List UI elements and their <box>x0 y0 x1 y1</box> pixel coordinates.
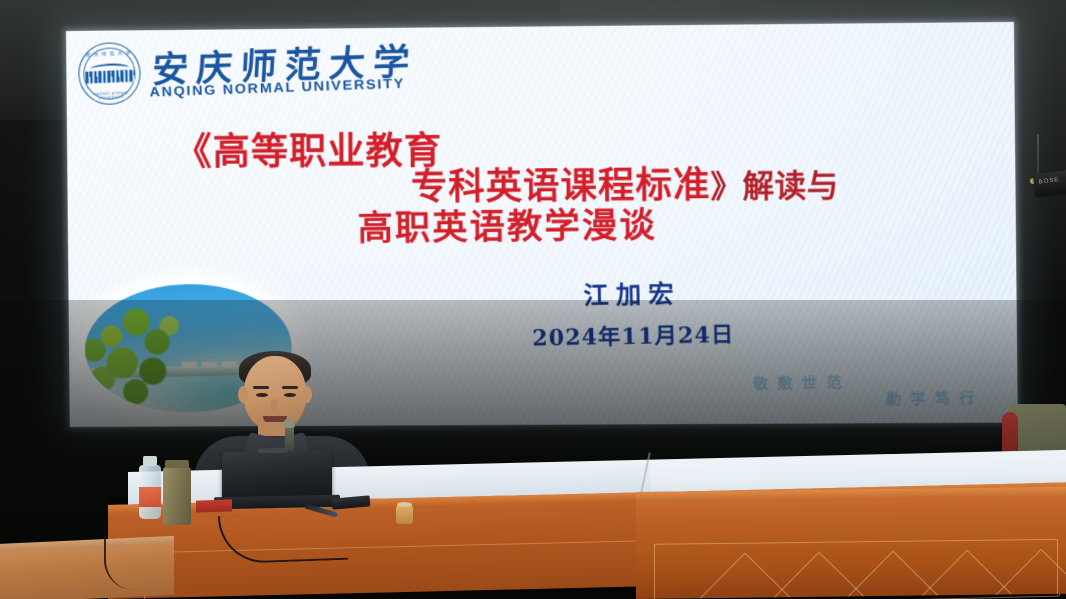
university-branding: 安庆师范大学 ANQING NORMAL UNIVERSITY 安庆师范大学 A… <box>74 34 416 123</box>
slide-title-line-3: 高职英语教学漫谈 <box>357 205 968 247</box>
slide-title-line-1: 《高等职业教育 <box>175 132 443 171</box>
wall-speaker-icon: BOSE <box>1033 170 1066 196</box>
laptop-screen[interactable] <box>222 450 332 500</box>
presentation-date: 2024年11月24日 <box>471 316 796 354</box>
water-bottle-icon <box>139 465 161 519</box>
slide-title-line-2-tail: 》解读与 <box>710 168 839 205</box>
podium-right-panel <box>636 487 1066 599</box>
speaker-brand-label: BOSE <box>1038 177 1059 185</box>
laptop-hinge <box>258 448 288 454</box>
slide-title: 《高等职业教育 专科英语课程标准》解读与 高职英语教学漫谈 <box>126 117 969 255</box>
speaker-mount-arm <box>1037 134 1039 174</box>
paper-cup-icon <box>396 505 413 524</box>
slide-title-line-2: 专科英语课程标准》解读与 <box>411 165 968 206</box>
university-seal-icon: 安庆师范大学 ANQING NORMAL UNIVERSITY <box>77 41 142 106</box>
lecture-hall-scene: 安庆师范大学 ANQING NORMAL UNIVERSITY 安庆师范大学 A… <box>0 0 1066 599</box>
presenter-name: 江加宏 <box>470 272 795 314</box>
slide-title-line-2-main: 专科英语课程标准 <box>411 164 711 209</box>
motto-text-2: 勤学笃行 <box>885 387 984 410</box>
cable-secondary <box>104 520 164 590</box>
slide-byline: 江加宏 2024年11月24日 <box>470 272 796 353</box>
motto-text-1: 敬敷世范 <box>753 371 851 394</box>
red-document <box>196 499 232 512</box>
seal-bottom-text: ANQING NORMAL UNIVERSITY <box>80 90 142 101</box>
thermos-icon <box>163 467 191 525</box>
